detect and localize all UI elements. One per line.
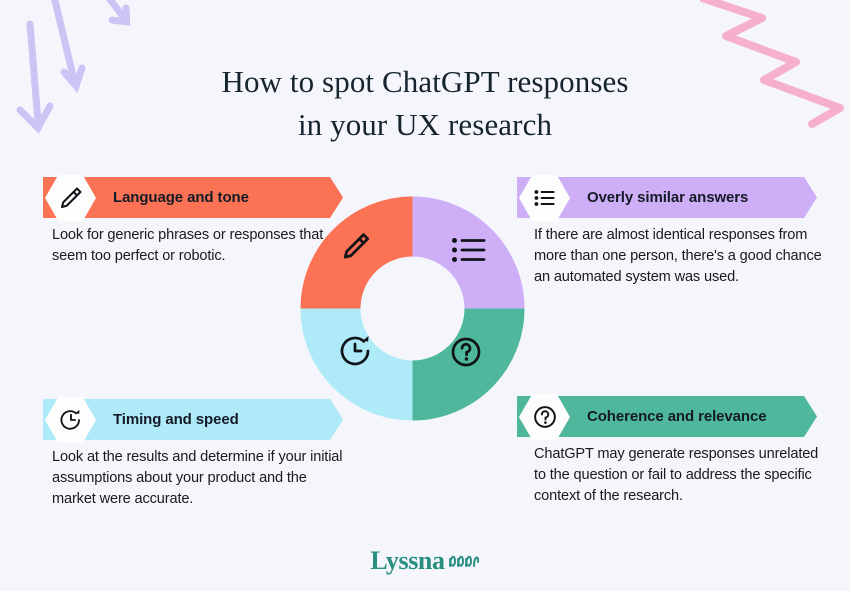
banner-language-and-tone[interactable]: Language and tone [43,177,343,218]
banner-label: Timing and speed [113,399,239,440]
banner-timing-and-speed[interactable]: Timing and speed [43,399,343,440]
lyssna-logo: Lyssna [0,546,850,576]
donut-segment-overly-similar-answers [413,196,526,309]
infographic-canvas: How to spot ChatGPT responses in your UX… [0,0,850,591]
banner-coherence-and-relevance[interactable]: Coherence and relevance [517,396,817,437]
card-overly-similar-answers: Overly similar answers If there are almo… [517,177,817,218]
card-language-and-tone: Language and tone Look for generic phras… [43,177,343,218]
banner-label: Coherence and relevance [587,396,766,437]
logo-wordmark: Lyssna [370,546,444,576]
title-line-1: How to spot ChatGPT responses [0,60,850,103]
wave-mark [446,550,480,572]
question-icon [533,405,557,429]
pencil-icon [59,186,83,210]
clock-icon [59,408,83,432]
title-line-2: in your UX research [0,103,850,146]
card-body-text: Look for generic phrases or responses th… [52,225,348,267]
card-timing-and-speed: Timing and speed Look at the results and… [43,399,343,440]
card-body-text: ChatGPT may generate responses unrelated… [534,444,826,507]
banner-label: Overly similar answers [587,177,748,218]
list-icon [533,186,557,210]
card-coherence-and-relevance: Coherence and relevance ChatGPT may gene… [517,396,817,437]
card-body-text: Look at the results and determine if you… [52,447,348,510]
banner-label: Language and tone [113,177,249,218]
page-title: How to spot ChatGPT responses in your UX… [0,60,850,146]
banner-overly-similar-answers[interactable]: Overly similar answers [517,177,817,218]
card-body-text: If there are almost identical responses … [534,225,826,288]
